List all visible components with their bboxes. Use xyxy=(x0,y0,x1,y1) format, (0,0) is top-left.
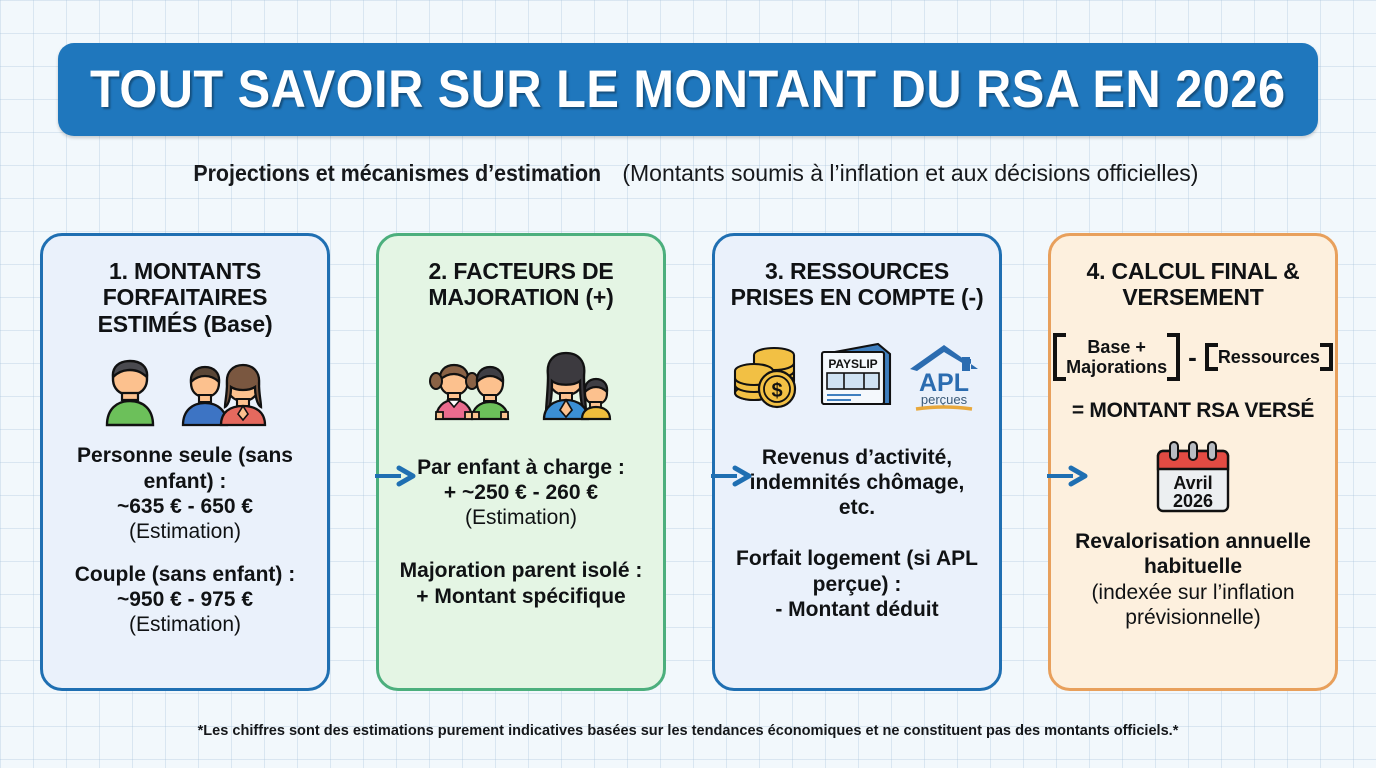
rsa-formula: Base + Majorations - Ressources xyxy=(1065,333,1321,381)
subtitle-light: (Montants soumis à l’inflation et aux dé… xyxy=(616,160,1199,186)
panel-2-block-1: Majoration parent isolé : + Montant spéc… xyxy=(400,558,643,608)
svg-text:$: $ xyxy=(771,380,782,402)
arrow-connector-1 xyxy=(375,465,417,487)
page-title-banner: TOUT SAVOIR SUR LE MONTANT DU RSA EN 202… xyxy=(58,43,1318,136)
panel-1-block-1: Couple (sans enfant) : ~950 € - 975 € (E… xyxy=(75,562,296,638)
panel-2-block-1-heading: Majoration parent isolé : xyxy=(400,558,643,583)
panel-3-block-1-heading: Forfait logement (si APL perçue) : xyxy=(729,546,985,596)
panel-4-title: 4. CALCUL FINAL & VERSEMENT xyxy=(1065,258,1321,311)
panel-3-block-1-amount: - Montant déduit xyxy=(729,597,985,622)
formula-result: = MONTANT RSA VERSÉ xyxy=(1072,399,1314,423)
calendar-month: Avril xyxy=(1173,473,1212,493)
panel-montants-forfaitaires: 1. MONTANTS FORFAITAIRES ESTIMÉS (Base) xyxy=(40,233,330,691)
panel-4-icons: Avril 2026 xyxy=(1152,439,1234,515)
arrow-connector-2 xyxy=(711,465,753,487)
apl-house-icon: APL perçues xyxy=(906,339,982,411)
arrow-connector-3 xyxy=(1047,465,1089,487)
panel-2-block-0-amount: + ~250 € - 260 € xyxy=(417,480,625,505)
panel-1-icons xyxy=(99,351,271,427)
couple-icon xyxy=(175,357,271,427)
panel-1-block-1-amount: ~950 € - 975 € xyxy=(75,587,296,612)
panel-2-block-0-note: (Estimation) xyxy=(417,505,625,530)
panel-3-block-1: Forfait logement (si APL perçue) : - Mon… xyxy=(729,546,985,622)
apl-sublabel: perçues xyxy=(921,392,968,407)
two-children-icon xyxy=(426,359,518,421)
coins-icon: $ xyxy=(732,341,806,409)
single-parent-with-child-icon xyxy=(532,349,616,421)
panel-1-block-1-heading: Couple (sans enfant) : xyxy=(75,562,296,587)
page-subtitle: Projections et mécanismes d’estimation (… xyxy=(0,160,1376,187)
panel-1-title: 1. MONTANTS FORFAITAIRES ESTIMÉS (Base) xyxy=(57,258,313,337)
panel-4-block-0-note: (indexée sur l’inflation prévisionnelle) xyxy=(1065,580,1321,630)
single-person-icon xyxy=(99,357,161,427)
panel-facteurs-majoration: 2. FACTEURS DE MAJORATION (+) xyxy=(376,233,666,691)
panel-3-title: 3. RESSOURCES PRISES EN COMPTE (-) xyxy=(729,258,985,311)
footer-disclaimer: *Les chiffres sont des estimations purem… xyxy=(21,722,1356,739)
formula-right-bracket: Ressources xyxy=(1205,343,1333,371)
panel-2-block-0: Par enfant à charge : + ~250 € - 260 € (… xyxy=(417,455,625,531)
panel-2-icons xyxy=(426,345,616,421)
panel-4-block-0: Revalorisation annuelle habituelle (inde… xyxy=(1065,529,1321,630)
panel-row: 1. MONTANTS FORFAITAIRES ESTIMÉS (Base) xyxy=(40,233,1340,691)
panel-3-block-0-heading: Revenus d’activité, indemnités chômage, … xyxy=(729,445,985,521)
panel-2-block-1-amount: + Montant spécifique xyxy=(400,584,643,609)
panel-1-block-0-heading: Personne seule (sans enfant) : xyxy=(57,443,313,493)
panel-3-block-0: Revenus d’activité, indemnités chômage, … xyxy=(729,445,985,521)
formula-left-bracket: Base + Majorations xyxy=(1053,333,1180,381)
panel-1-block-0: Personne seule (sans enfant) : ~635 € - … xyxy=(57,443,313,544)
panel-3-icons: $ PAYSLIP xyxy=(732,337,982,413)
panel-ressources: 3. RESSOURCES PRISES EN COMPTE (-) xyxy=(712,233,1002,691)
panel-4-block-0-heading: Revalorisation annuelle habituelle xyxy=(1065,529,1321,579)
panel-1-block-0-note: (Estimation) xyxy=(57,519,313,544)
panel-2-block-0-heading: Par enfant à charge : xyxy=(417,455,625,480)
panel-2-title: 2. FACTEURS DE MAJORATION (+) xyxy=(393,258,649,311)
payslip-label: PAYSLIP xyxy=(828,357,877,371)
payslip-icon: PAYSLIP xyxy=(816,340,896,410)
subtitle-strong: Projections et mécanismes d’estimation xyxy=(193,160,601,187)
page-title: TOUT SAVOIR SUR LE MONTANT DU RSA EN 202… xyxy=(90,59,1286,120)
formula-operator: - xyxy=(1186,342,1199,373)
panel-1-block-1-note: (Estimation) xyxy=(75,612,296,637)
formula-left-text: Base + Majorations xyxy=(1066,337,1167,377)
formula-right-text: Ressources xyxy=(1218,347,1320,367)
calendar-year: 2026 xyxy=(1173,491,1213,511)
calendar-icon: Avril 2026 xyxy=(1152,439,1234,515)
panel-calcul-final: 4. CALCUL FINAL & VERSEMENT Base + Major… xyxy=(1048,233,1338,691)
panel-1-block-0-amount: ~635 € - 650 € xyxy=(57,494,313,519)
